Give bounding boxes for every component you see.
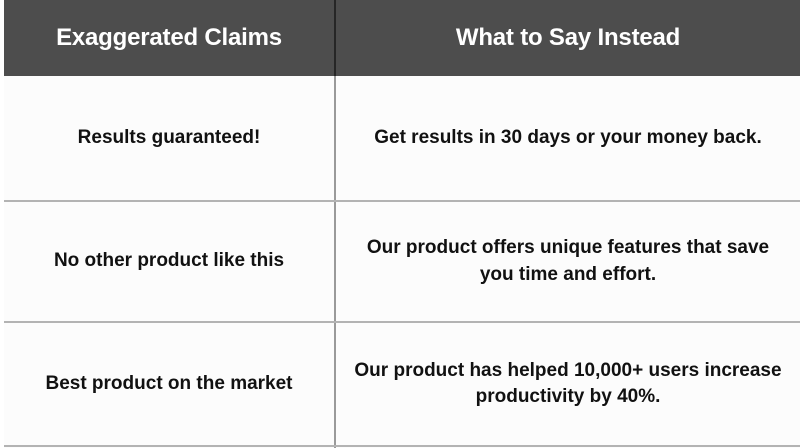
table-row: Best product on the market Our product h…	[4, 322, 800, 446]
column-header-exaggerated-claims: Exaggerated Claims	[4, 0, 335, 76]
table-body: Results guaranteed! Get results in 30 da…	[4, 76, 800, 448]
cell-alternative: Get results in 30 days or your money bac…	[335, 76, 800, 201]
table-row: No other product like this Our product o…	[4, 201, 800, 322]
table-header-row: Exaggerated Claims What to Say Instead	[4, 0, 800, 76]
table-header: Exaggerated Claims What to Say Instead	[4, 0, 800, 76]
column-header-what-to-say-instead: What to Say Instead	[335, 0, 800, 76]
cell-claim: Best product on the market	[4, 322, 335, 446]
cell-claim: No other product like this	[4, 201, 335, 322]
claims-comparison-table: Exaggerated Claims What to Say Instead R…	[4, 0, 800, 448]
cell-alternative: Our product offers unique features that …	[335, 201, 800, 322]
cell-claim: Results guaranteed!	[4, 76, 335, 201]
cell-alternative: Our product has helped 10,000+ users inc…	[335, 322, 800, 446]
comparison-table-container: Exaggerated Claims What to Say Instead R…	[0, 0, 800, 448]
table-row: Results guaranteed! Get results in 30 da…	[4, 76, 800, 201]
